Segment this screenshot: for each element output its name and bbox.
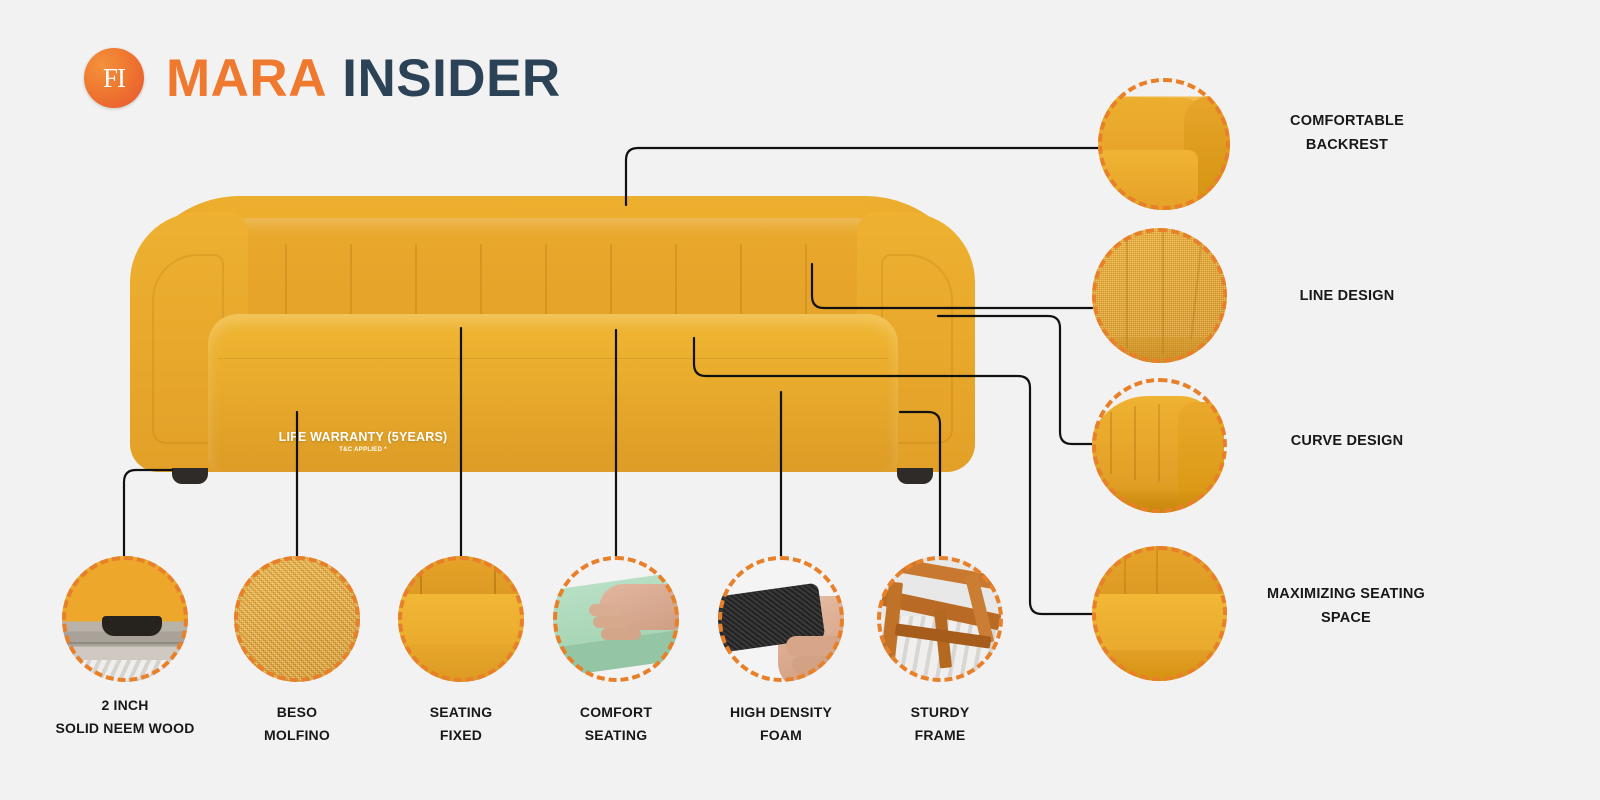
- thumb-comfortable-backrest[interactable]: [1098, 78, 1230, 210]
- label-maximizing-seating-space: MAXIMIZING SEATING SPACE: [1240, 583, 1452, 631]
- label-line-1: COMFORT: [521, 701, 711, 724]
- label-comfort-seating: COMFORT SEATING: [521, 701, 711, 747]
- wooden-frame-structure-art: [877, 556, 1003, 682]
- hand-pressing-green-foam-art: [553, 556, 679, 682]
- thumb-high-density-foam[interactable]: [718, 556, 844, 682]
- label-line-1: LINE DESIGN: [1252, 285, 1442, 309]
- label-comfortable-backrest: COMFORTABLE BACKREST: [1252, 110, 1442, 158]
- thumb-maximizing-seating-space[interactable]: [1092, 546, 1227, 681]
- thumb-seating-fixed[interactable]: [398, 556, 524, 682]
- fixed-seat-closeup-art: [398, 556, 524, 682]
- label-solid-neem-wood: 2 INCH SOLID NEEM WOOD: [20, 694, 230, 740]
- sofa-leg-on-floor-art: [62, 556, 188, 682]
- label-line-1: STURDY: [845, 701, 1035, 724]
- connector-solid-neem-wood: [124, 470, 172, 556]
- connector-curve-design: [938, 316, 1092, 444]
- connector-line-design: [812, 264, 1092, 308]
- fabric-weave-swatch-art: [234, 556, 360, 682]
- label-line-2: FRAME: [845, 724, 1035, 747]
- infographic-canvas: FI MARA INSIDER: [0, 0, 1600, 800]
- label-curve-design: CURVE DESIGN: [1252, 430, 1442, 454]
- label-line-1: MAXIMIZING SEATING: [1240, 583, 1452, 607]
- connector-sturdy-frame: [900, 412, 940, 556]
- connector-comfortable-backrest: [626, 148, 1100, 205]
- thumb-solid-neem-wood[interactable]: [62, 556, 188, 682]
- label-line-2: SPACE: [1240, 607, 1452, 631]
- thumb-beso-molfino[interactable]: [234, 556, 360, 682]
- label-sturdy-frame: STURDY FRAME: [845, 701, 1035, 747]
- label-line-design: LINE DESIGN: [1252, 285, 1442, 309]
- thumb-curve-design[interactable]: [1092, 378, 1227, 513]
- wide-seat-closeup-art: [1092, 546, 1227, 681]
- thumb-comfort-seating[interactable]: [553, 556, 679, 682]
- thumb-sturdy-frame[interactable]: [877, 556, 1003, 682]
- label-line-1: BESO: [202, 701, 392, 724]
- curved-arm-closeup-art: [1092, 378, 1227, 513]
- fluted-line-closeup-art: [1092, 228, 1227, 363]
- backrest-closeup-art: [1098, 78, 1230, 210]
- label-line-2: SOLID NEEM WOOD: [20, 717, 230, 740]
- label-beso-molfino: BESO MOLFINO: [202, 701, 392, 747]
- label-line-2: BACKREST: [1252, 134, 1442, 158]
- label-line-2: MOLFINO: [202, 724, 392, 747]
- hand-squeezing-black-foam-art: [718, 556, 844, 682]
- label-line-2: SEATING: [521, 724, 711, 747]
- label-line-1: COMFORTABLE: [1252, 110, 1442, 134]
- thumb-line-design[interactable]: [1092, 228, 1227, 363]
- label-line-1: 2 INCH: [20, 694, 230, 717]
- label-line-1: CURVE DESIGN: [1252, 430, 1442, 454]
